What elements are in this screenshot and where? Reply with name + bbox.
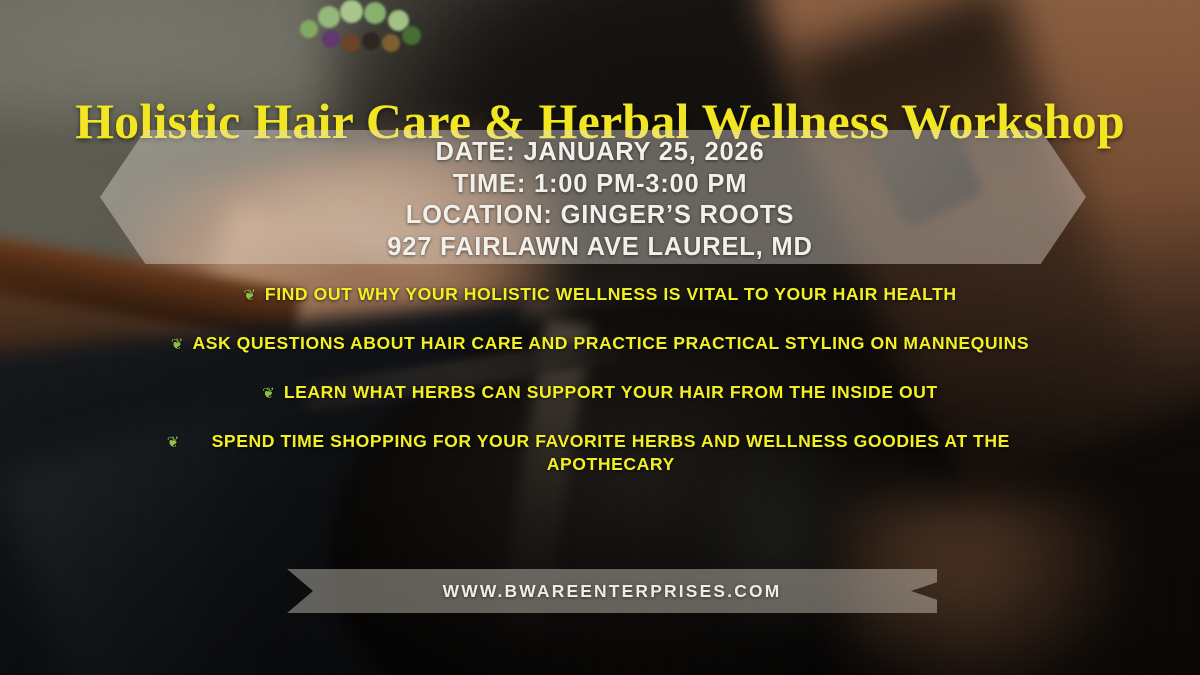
list-item: ❦ SPEND TIME SHOPPING FOR YOUR FAVORITE … (0, 430, 1200, 476)
event-date-line: DATE: JANUARY 25, 2026 (0, 137, 1200, 169)
list-item: ❦ LEARN WHAT HERBS CAN SUPPORT YOUR HAIR… (0, 381, 1200, 404)
event-flyer: Holistic Hair Care & Herbal Wellness Wor… (0, 0, 1200, 675)
website-url[interactable]: WWW.BWAREENTERPRISES.COM (443, 581, 782, 602)
event-details: DATE: JANUARY 25, 2026 TIME: 1:00 PM-3:0… (0, 137, 1200, 263)
leaf-icon: ❦ (243, 285, 256, 306)
list-item-label: LEARN WHAT HERBS CAN SUPPORT YOUR HAIR F… (284, 381, 938, 404)
list-item-label: SPEND TIME SHOPPING FOR YOUR FAVORITE HE… (188, 430, 1033, 476)
event-address-line: 927 FAIRLAWN AVE LAUREL, MD (0, 232, 1200, 264)
list-item-label: FIND OUT WHY YOUR HOLISTIC WELLNESS IS V… (265, 283, 957, 306)
leaf-icon: ❦ (262, 383, 275, 404)
list-item: ❦ ASK QUESTIONS ABOUT HAIR CARE AND PRAC… (0, 332, 1200, 355)
list-item: ❦ FIND OUT WHY YOUR HOLISTIC WELLNESS IS… (0, 283, 1200, 306)
leaf-icon: ❦ (171, 334, 184, 355)
website-ribbon-content: WWW.BWAREENTERPRISES.COM (287, 569, 937, 613)
list-item-label: ASK QUESTIONS ABOUT HAIR CARE AND PRACTI… (192, 332, 1029, 355)
event-location-line: LOCATION: GINGER’S ROOTS (0, 200, 1200, 232)
event-time-line: TIME: 1:00 PM-3:00 PM (0, 169, 1200, 201)
highlights-list: ❦ FIND OUT WHY YOUR HOLISTIC WELLNESS IS… (0, 283, 1200, 502)
leaf-icon: ❦ (167, 432, 180, 453)
